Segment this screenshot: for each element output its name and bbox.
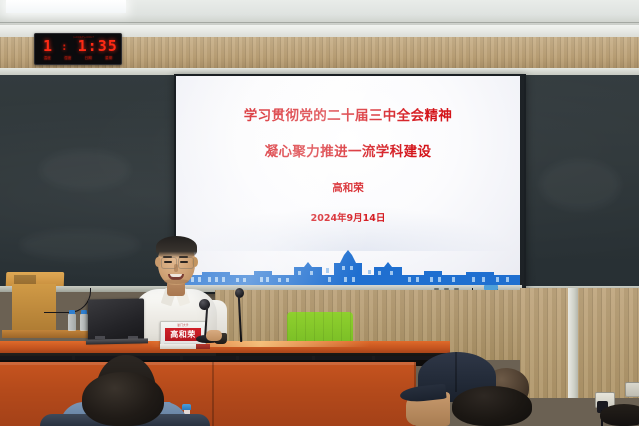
wood-wall-right xyxy=(520,288,639,398)
chalk-smudge xyxy=(540,160,620,210)
ceiling-seam xyxy=(0,22,639,23)
chalk-smudge xyxy=(40,150,130,190)
clock-info-strip: 温度 湿度 日期 星期 xyxy=(37,55,119,62)
clock-strip-label-4: 星期 xyxy=(105,56,112,61)
projection-screen: 学习贯彻党的二十届三中全会精神 凝心聚力推进一流学科建设 高和荣 2024年9月… xyxy=(176,76,520,285)
notebook xyxy=(160,344,198,349)
chalk-smudge xyxy=(20,230,140,260)
podium-seam xyxy=(212,362,214,426)
wall-column xyxy=(568,288,578,398)
power-outlet-secondary xyxy=(625,382,639,397)
bottle-body xyxy=(80,314,88,331)
slide-title-line1: 学习贯彻党的二十届三中全会精神 xyxy=(176,104,520,124)
slide-date: 2024年9月14日 xyxy=(176,210,520,224)
water-bottle xyxy=(68,310,76,331)
cap-seam xyxy=(455,352,457,392)
presenter-nose xyxy=(174,264,178,272)
audience-member-head xyxy=(600,404,639,426)
clock-left-digit: 1 xyxy=(43,39,52,54)
lecture-hall-photo: \u00b7\u00b7 1 : 1:35 温度 湿度 日期 星期 xyxy=(0,0,639,426)
clock-time: 1:35 xyxy=(78,39,118,54)
slide-title-line2: 凝心聚力推进一流学科建设 xyxy=(176,140,520,160)
podium-top-edge xyxy=(0,362,416,365)
presenter-teeth xyxy=(170,274,182,277)
clock-digits-row: 1 : 1:35 xyxy=(35,36,121,56)
audience-member-head xyxy=(452,386,532,426)
presenter-hair xyxy=(156,236,197,258)
presenter-hand xyxy=(206,330,222,341)
slide-author: 高和荣 xyxy=(176,180,520,195)
name-plate-subtitle: 厦门大学 xyxy=(161,323,205,327)
clock-strip-label-3: 日期 xyxy=(85,56,92,61)
clock-strip-label-2: 湿度 xyxy=(64,56,71,61)
led-wall-clock: \u00b7\u00b7 1 : 1:35 温度 湿度 日期 星期 xyxy=(34,33,122,65)
red-book xyxy=(196,344,210,349)
presenter-eyebrow-right xyxy=(179,256,188,258)
bottle-body xyxy=(68,314,76,331)
clock-colon-icon: : xyxy=(61,39,68,54)
audience-member-head xyxy=(82,372,164,426)
lectern-shelf xyxy=(2,330,94,338)
ceiling-light-strip xyxy=(6,0,126,13)
presenter-chin-shadow xyxy=(164,279,189,284)
campus-skyline-icon xyxy=(176,249,520,285)
clock-strip-label-1: 温度 xyxy=(44,56,51,61)
presenter-eyebrow-left xyxy=(163,256,172,258)
water-bottle xyxy=(80,310,88,331)
